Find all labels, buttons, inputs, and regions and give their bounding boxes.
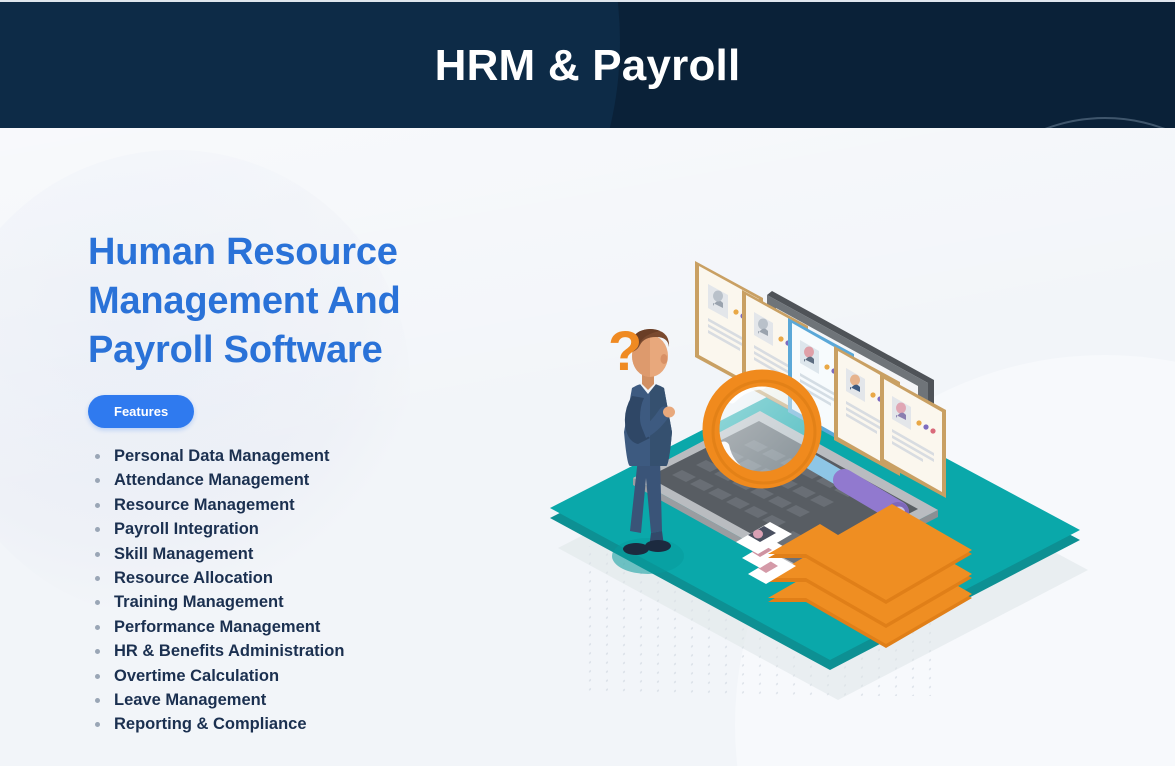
list-item: Attendance Management — [88, 468, 558, 492]
shoe — [623, 543, 649, 555]
hero-left-column: Human Resource Management And Payroll So… — [88, 228, 558, 737]
list-item: Resource Allocation — [88, 566, 558, 590]
list-item: Reporting & Compliance — [88, 712, 558, 736]
list-item: Skill Management — [88, 542, 558, 566]
list-item: HR & Benefits Administration — [88, 639, 558, 663]
headline-line-2: Management And — [88, 277, 558, 326]
list-item: Performance Management — [88, 615, 558, 639]
question-mark-icon: ? — [608, 319, 642, 382]
list-item: Payroll Integration — [88, 517, 558, 541]
magnifier-lens — [706, 373, 818, 485]
hero-section: Human Resource Management And Payroll So… — [0, 128, 1175, 766]
page-header: HRM & Payroll — [0, 0, 1175, 128]
shoe — [645, 540, 671, 552]
svg-text:?: ? — [608, 319, 642, 382]
headline-line-1: Human Resource — [88, 228, 558, 277]
headline-line-3: Payroll Software — [88, 326, 558, 375]
feature-list: Personal Data Management Attendance Mana… — [88, 444, 558, 737]
features-badge[interactable]: Features — [88, 395, 194, 428]
page-title: HRM & Payroll — [0, 2, 1175, 128]
list-item: Leave Management — [88, 688, 558, 712]
hrm-illustration: ? — [520, 246, 1120, 726]
list-item: Overtime Calculation — [88, 664, 558, 688]
list-item: Personal Data Management — [88, 444, 558, 468]
hero-headline: Human Resource Management And Payroll So… — [88, 228, 558, 375]
hrm-payroll-page: HRM & Payroll Human Resource Management … — [0, 0, 1175, 766]
list-item: Training Management — [88, 590, 558, 614]
list-item: Resource Management — [88, 493, 558, 517]
